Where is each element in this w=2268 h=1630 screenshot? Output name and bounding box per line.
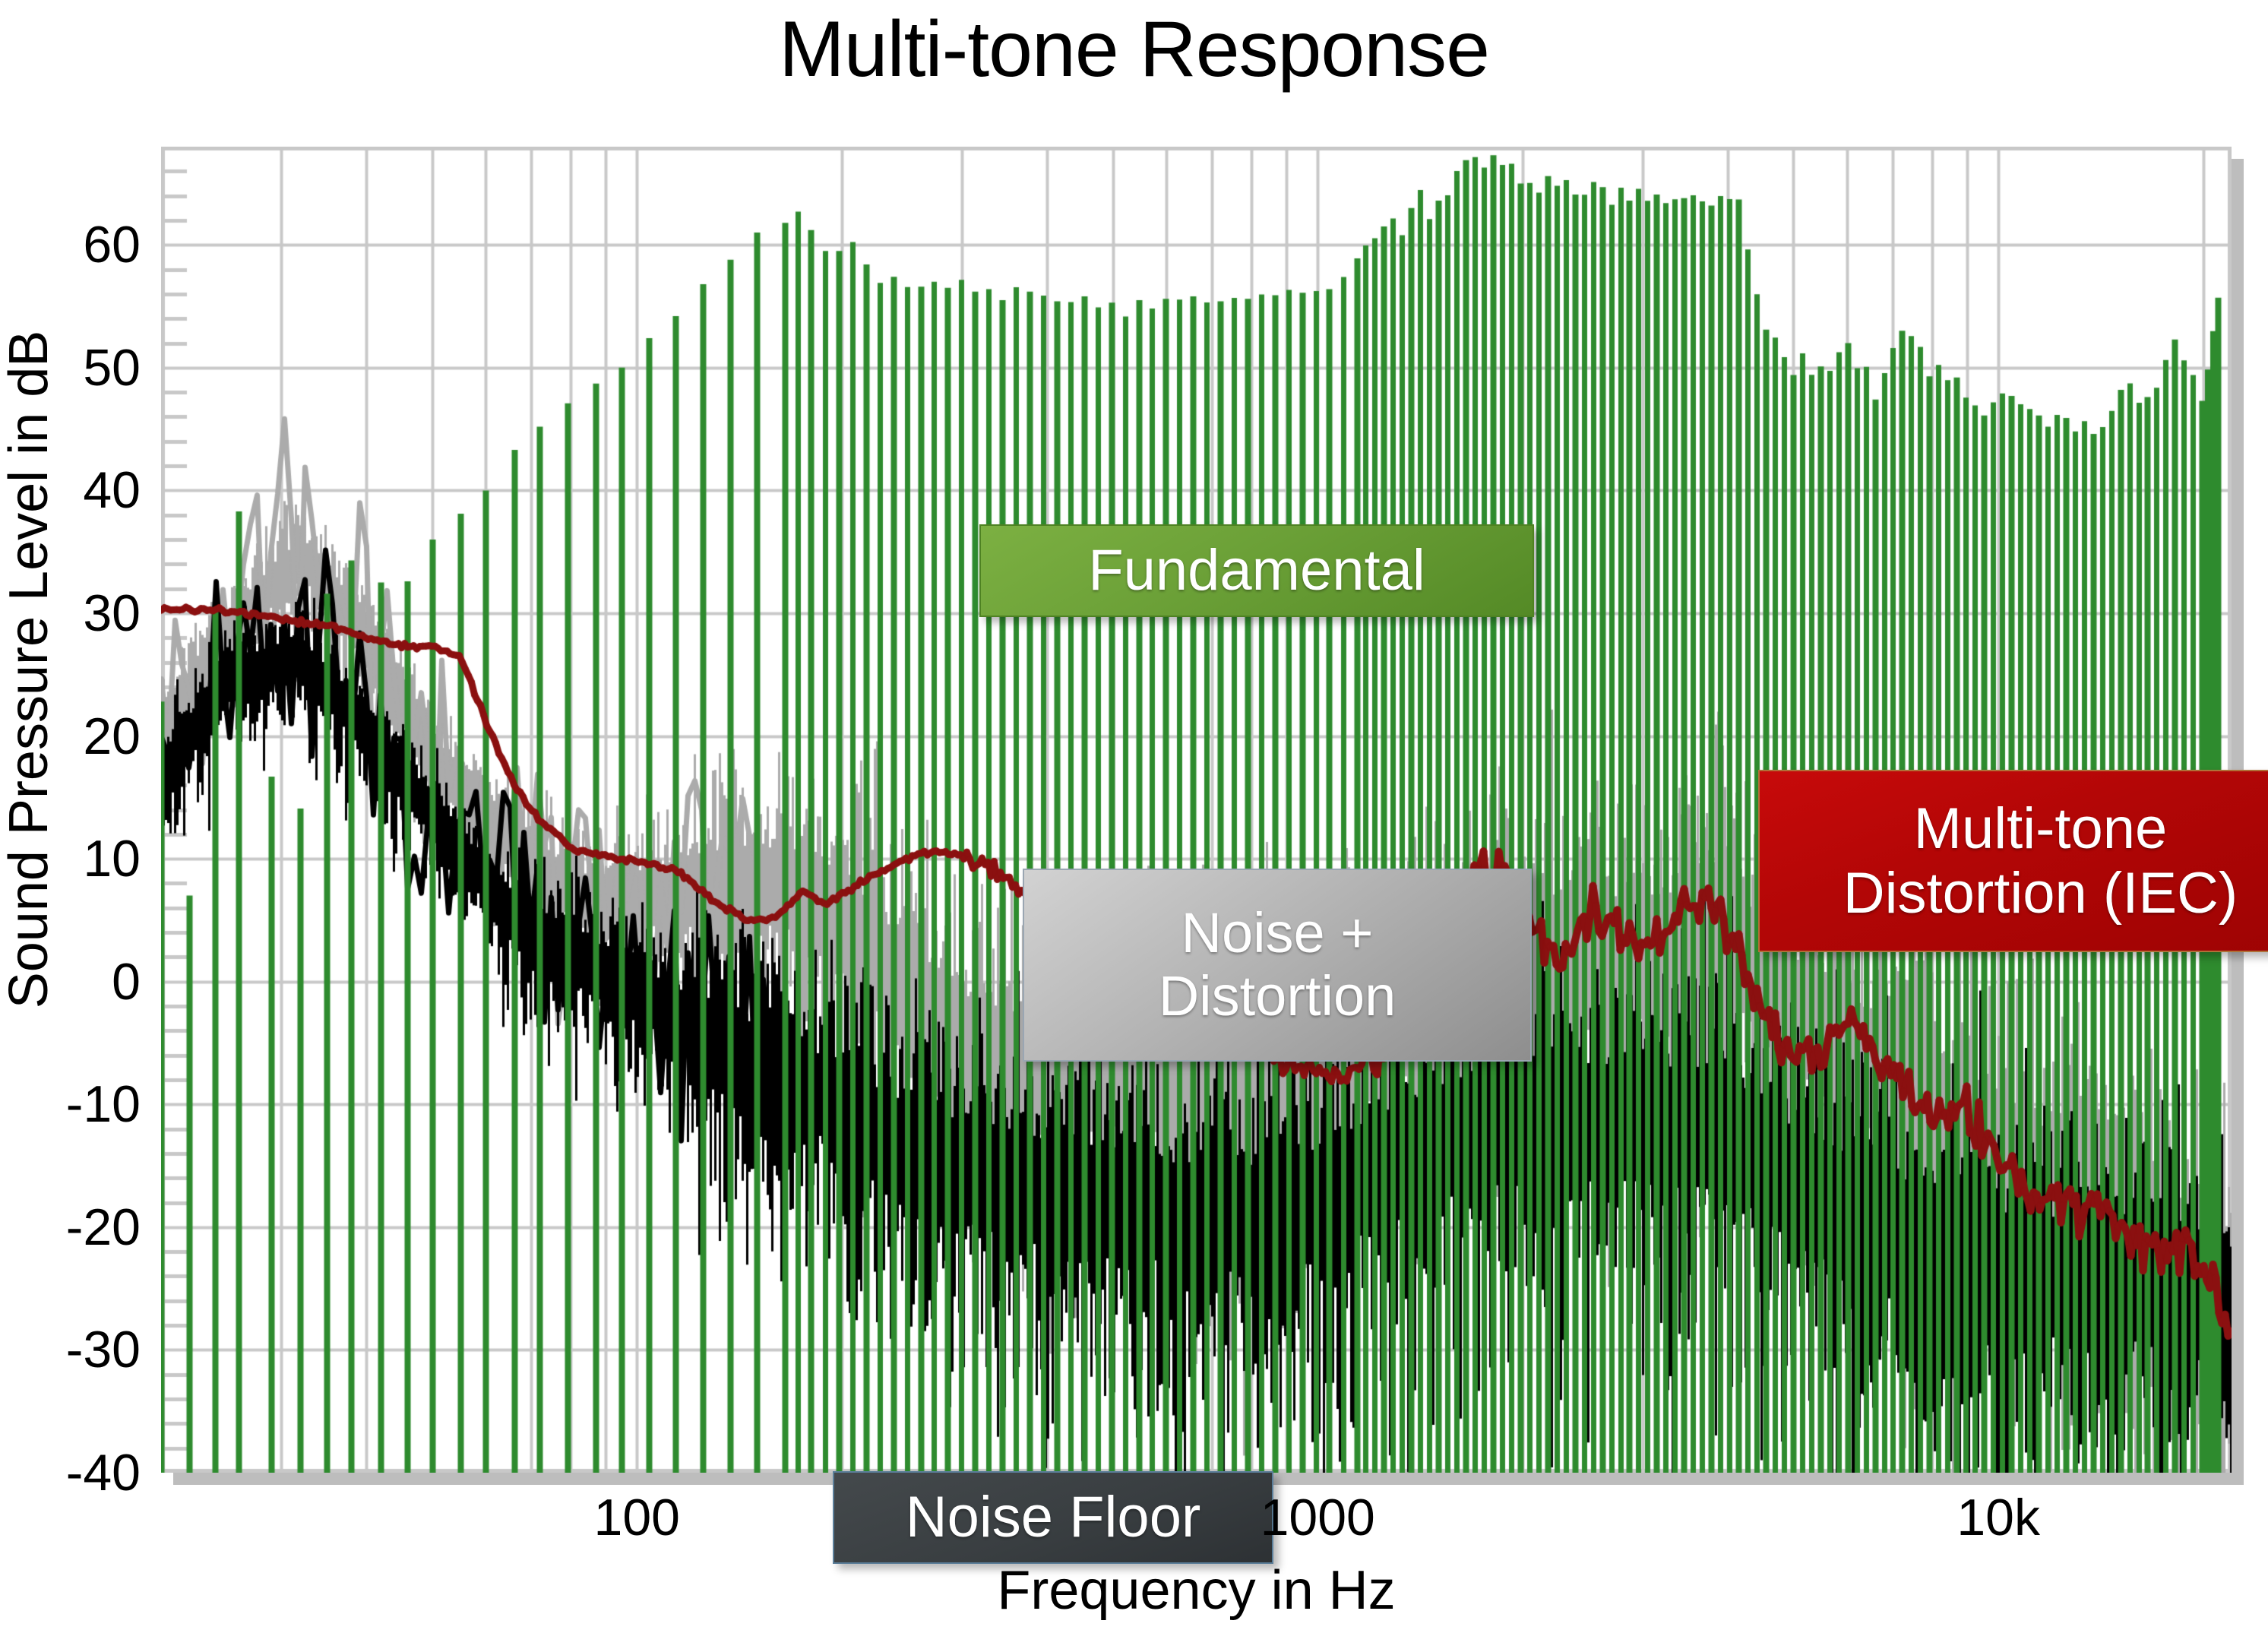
y-tick-label: -40 bbox=[66, 1443, 141, 1502]
annotation-mtd-line2: Distortion (IEC) bbox=[1843, 861, 2238, 926]
x-tick-label: 100 bbox=[594, 1488, 680, 1547]
x-axis-title: Frequency in Hz bbox=[161, 1559, 2232, 1622]
y-tick-label: 40 bbox=[83, 461, 141, 520]
y-tick-label: 50 bbox=[83, 338, 141, 397]
x-tick-label: 10k bbox=[1956, 1488, 2040, 1547]
y-tick-label: 30 bbox=[83, 584, 141, 643]
y-tick-label: 10 bbox=[83, 829, 141, 888]
annotation-noise-line1: Noise + bbox=[1159, 902, 1397, 965]
annotation-noise-line2: Distortion bbox=[1159, 965, 1397, 1028]
y-tick-label: -10 bbox=[66, 1075, 141, 1134]
y-tick-label: -30 bbox=[66, 1320, 141, 1379]
y-tick-label: 20 bbox=[83, 707, 141, 766]
y-tick-label: 60 bbox=[83, 215, 141, 274]
annotation-noise-floor-label: Noise Floor bbox=[906, 1485, 1201, 1549]
y-axis-title: Sound Pressure Level in dB bbox=[0, 62, 60, 1277]
chart-title: Multi-tone Response bbox=[0, 5, 2268, 95]
annotation-mtd-line1: Multi-tone bbox=[1843, 796, 2238, 861]
annotation-fundamental: Fundamental bbox=[979, 524, 1534, 617]
plot-area: Fundamental Noise + Distortion Multi-ton… bbox=[161, 147, 2232, 1473]
y-tick-label: -20 bbox=[66, 1198, 141, 1257]
x-tick-label: 1000 bbox=[1261, 1488, 1375, 1547]
y-tick-label: 0 bbox=[112, 952, 141, 1011]
annotation-fundamental-label: Fundamental bbox=[1088, 538, 1425, 603]
annotation-noise-floor: Noise Floor bbox=[833, 1471, 1273, 1564]
chart-figure: Multi-tone Response Fundamental Noise + … bbox=[0, 0, 2268, 1630]
annotation-multitone-distortion: Multi-tone Distortion (IEC) bbox=[1758, 770, 2268, 952]
annotation-noise-plus-distortion: Noise + Distortion bbox=[1023, 869, 1532, 1062]
